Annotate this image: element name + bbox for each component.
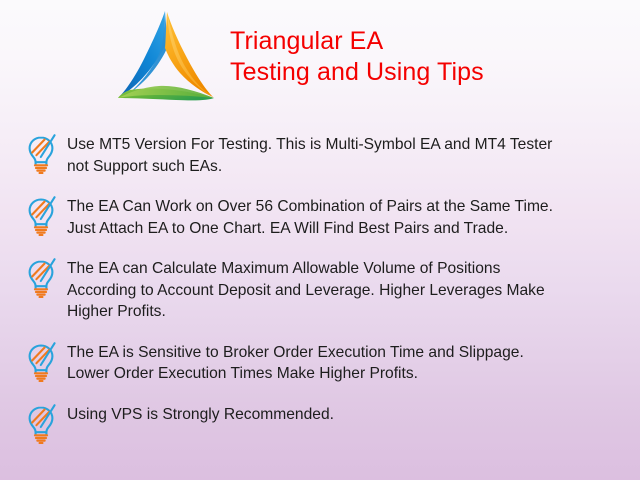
triangular-ea-logo bbox=[110, 8, 222, 106]
page-title: Triangular EA Testing and Using Tips bbox=[230, 26, 630, 88]
tip-item: Use MT5 Version For Testing. This is Mul… bbox=[0, 132, 640, 177]
tip-line: According to Account Deposit and Leverag… bbox=[67, 280, 622, 302]
tip-line: The EA can Calculate Maximum Allowable V… bbox=[67, 258, 622, 280]
tip-line: Higher Profits. bbox=[67, 301, 622, 323]
tip-item: The EA Can Work on Over 56 Combination o… bbox=[0, 194, 640, 239]
lightbulb-idea-icon bbox=[24, 256, 58, 298]
tips-list: Use MT5 Version For Testing. This is Mul… bbox=[0, 132, 640, 461]
tip-text: The EA Can Work on Over 56 Combination o… bbox=[67, 194, 640, 239]
lightbulb-idea-icon bbox=[24, 340, 58, 382]
tip-line: Use MT5 Version For Testing. This is Mul… bbox=[67, 134, 622, 156]
tip-line: Using VPS is Strongly Recommended. bbox=[67, 404, 622, 426]
tip-line: not Support such EAs. bbox=[67, 156, 622, 178]
tip-text: Use MT5 Version For Testing. This is Mul… bbox=[67, 132, 640, 177]
tip-text: The EA can Calculate Maximum Allowable V… bbox=[67, 256, 640, 323]
tip-item: The EA is Sensitive to Broker Order Exec… bbox=[0, 340, 640, 385]
tip-line: The EA is Sensitive to Broker Order Exec… bbox=[67, 342, 622, 364]
tip-text: The EA is Sensitive to Broker Order Exec… bbox=[67, 340, 640, 385]
tip-item: The EA can Calculate Maximum Allowable V… bbox=[0, 256, 640, 323]
lightbulb-idea-icon bbox=[24, 132, 58, 174]
lightbulb-idea-icon bbox=[24, 194, 58, 236]
tip-line: Just Attach EA to One Chart. EA Will Fin… bbox=[67, 218, 622, 240]
title-line-2: Testing and Using Tips bbox=[230, 57, 630, 88]
tip-line: The EA Can Work on Over 56 Combination o… bbox=[67, 196, 622, 218]
lightbulb-idea-icon bbox=[24, 402, 58, 444]
slide-canvas: Triangular EA Testing and Using Tips bbox=[0, 0, 640, 480]
title-line-1: Triangular EA bbox=[230, 26, 630, 57]
tip-item: Using VPS is Strongly Recommended. bbox=[0, 402, 640, 444]
header: Triangular EA Testing and Using Tips bbox=[0, 0, 640, 118]
tip-line: Lower Order Execution Times Make Higher … bbox=[67, 363, 622, 385]
tip-text: Using VPS is Strongly Recommended. bbox=[67, 402, 640, 426]
